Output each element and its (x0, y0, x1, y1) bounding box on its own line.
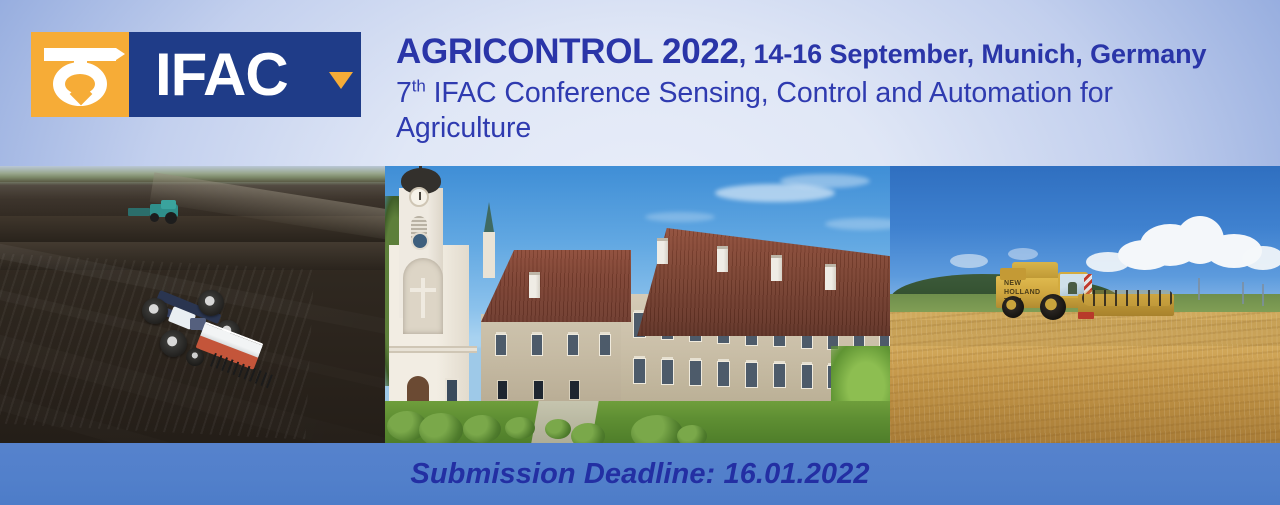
chimney (717, 246, 728, 272)
abbey-window (689, 360, 702, 386)
cloud (1242, 246, 1280, 270)
field-robot-photo (0, 166, 385, 443)
topiary-bush (463, 415, 501, 443)
submission-deadline: Submission Deadline: 16.01.2022 (410, 458, 869, 491)
harvester-hood (1000, 268, 1026, 280)
ifac-logo-mark-icon (31, 32, 129, 117)
banner-footer: Submission Deadline: 16.01.2022 (0, 443, 1280, 505)
abbey-window (599, 334, 611, 356)
tractor-wheel (165, 212, 177, 224)
chimney (529, 272, 540, 298)
cross-icon (421, 278, 425, 318)
robot-wheel (198, 290, 224, 316)
clock-face-icon (409, 187, 429, 207)
chimney (771, 255, 782, 281)
subtitle-ordinal-number: 7 (396, 77, 412, 109)
harvester-red-marker (1078, 312, 1094, 319)
wheat-texture (890, 312, 1280, 443)
conference-subtitle: 7th IFAC Conference Sensing, Control and… (396, 76, 1156, 146)
wheat-field (890, 312, 1280, 443)
topiary-bush (505, 417, 535, 439)
topiary-bush (677, 425, 707, 443)
abbey-wing (481, 228, 890, 403)
topiary-bush (631, 415, 683, 443)
autonomous-field-robot (140, 288, 260, 393)
power-pylon (1262, 284, 1264, 306)
cloud (645, 212, 715, 222)
combine-harvester-photo: NEW HOLLANDTX64 (890, 166, 1280, 443)
cornice (389, 346, 477, 353)
monastery-venue-photo (385, 166, 890, 443)
abbey-window (717, 361, 730, 387)
harvester-reel (1082, 290, 1174, 306)
chimney (825, 264, 836, 290)
abbey-window (745, 362, 758, 388)
power-pylon (1198, 278, 1200, 300)
subtitle-main-text: IFAC Conference Sensing, Control and Aut… (396, 77, 1113, 144)
abbey-ground-window (497, 380, 508, 400)
banner-header: IFAC AGRICONTROL 2022, 14-16 September, … (0, 0, 1280, 166)
church-tower-building (389, 170, 485, 420)
tractor-cab (161, 200, 176, 209)
subtitle-ordinal-suffix: th (412, 76, 426, 95)
harvester-brand-line1: NEW HOLLAND (1004, 280, 1040, 296)
cloud (780, 174, 870, 188)
roof-texture (481, 250, 631, 322)
abbey-window (801, 364, 813, 389)
abbey-window (567, 334, 579, 356)
topiary-bush (571, 423, 605, 443)
round-window (411, 232, 429, 250)
triangle-accent-icon (329, 72, 353, 89)
abbey-ground-window (569, 380, 580, 400)
abbey-ground-window (533, 380, 544, 400)
distant-tractor (128, 202, 178, 224)
harvester-wheel (1002, 296, 1024, 318)
harvester-wheel (1040, 294, 1066, 320)
chimney (657, 238, 668, 264)
combine-harvester: NEW HOLLANDTX64 (978, 258, 1178, 330)
abbey-window (661, 359, 674, 385)
abbey-window (531, 334, 543, 356)
conference-title-line: AGRICONTROL 2022, 14-16 September, Munic… (396, 34, 1266, 71)
ifac-wordmark: IFAC (129, 32, 361, 117)
abbey-window (633, 358, 646, 384)
page-title: AGRICONTROL 2022 (396, 32, 739, 71)
ifac-logo[interactable]: IFAC (31, 32, 361, 117)
photo-strip: NEW HOLLANDTX64 (0, 166, 1280, 443)
topiary-bush (545, 419, 571, 439)
topiary-bush (419, 413, 463, 443)
robot-wheel (160, 330, 187, 357)
tractor-implement (128, 208, 150, 216)
tractor-wheel (150, 213, 159, 222)
header-text-block: AGRICONTROL 2022, 14-16 September, Munic… (396, 34, 1266, 145)
harvester-brand-label: NEW HOLLANDTX64 (1004, 280, 1048, 291)
conference-banner: IFAC AGRICONTROL 2022, 14-16 September, … (0, 0, 1280, 505)
abbey-roof-low (481, 250, 631, 322)
harvester-driver (1068, 282, 1077, 294)
ifac-wordmark-text: IFAC (155, 45, 288, 105)
power-pylon (1242, 282, 1244, 304)
abbey-window (773, 363, 786, 388)
robot-wheel (142, 298, 168, 324)
conference-dates-location: , 14-16 September, Munich, Germany (739, 39, 1207, 69)
abbey-window (495, 334, 507, 356)
